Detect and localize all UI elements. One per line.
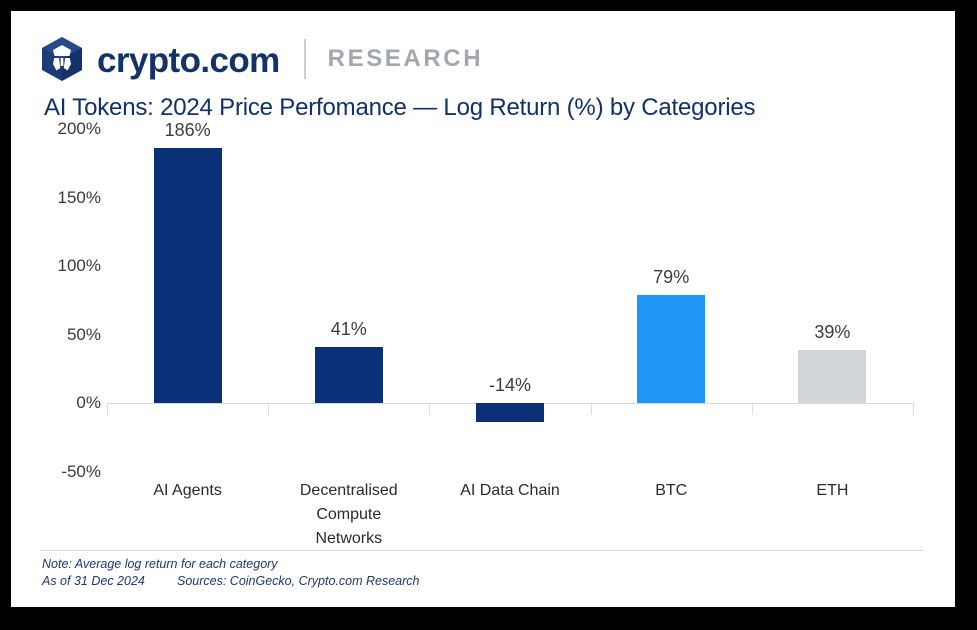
y-axis-tick-label: 150% xyxy=(23,188,101,208)
bar[interactable] xyxy=(476,403,544,422)
x-axis-tick xyxy=(913,403,914,415)
y-axis-tick-label: 50% xyxy=(23,325,101,345)
bar-value-label: 39% xyxy=(752,322,912,343)
x-axis-tick xyxy=(752,403,753,415)
category-label-line: Networks xyxy=(254,527,444,551)
bar[interactable] xyxy=(315,347,383,403)
bar[interactable] xyxy=(798,350,866,403)
footer-as-of: As of 31 Dec 2024 xyxy=(42,574,145,588)
x-axis-tick xyxy=(107,403,108,415)
bar[interactable] xyxy=(637,295,705,403)
bar-chart: 200%150%100%50%0%-50% 186%41%-14%79%39% … xyxy=(11,11,955,607)
chart-card: crypto.com RESEARCH AI Tokens: 2024 Pric… xyxy=(11,11,955,607)
footer-note: Note: Average log return for each catego… xyxy=(42,557,278,571)
footer-sources: Sources: CoinGecko, Crypto.com Research xyxy=(177,574,419,588)
category-label-line: Compute xyxy=(254,503,444,527)
x-axis-category-label: ETH xyxy=(737,479,927,503)
bar-value-label: 41% xyxy=(269,319,429,340)
y-axis-tick-label: 200% xyxy=(23,119,101,139)
x-axis-tick xyxy=(429,403,430,415)
footer-divider xyxy=(40,550,924,551)
y-axis-tick-label: 0% xyxy=(23,393,101,413)
bar-value-label: 186% xyxy=(108,120,268,141)
x-axis-tick xyxy=(591,403,592,415)
category-label-line: ETH xyxy=(737,479,927,503)
screenshot-root: crypto.com RESEARCH AI Tokens: 2024 Pric… xyxy=(0,0,977,630)
x-axis-tick xyxy=(268,403,269,415)
y-axis-tick-label: -50% xyxy=(23,462,101,482)
bar-value-label: 79% xyxy=(591,267,751,288)
bar[interactable] xyxy=(154,148,222,403)
bar-value-label: -14% xyxy=(430,375,590,396)
y-axis-tick-label: 100% xyxy=(23,256,101,276)
